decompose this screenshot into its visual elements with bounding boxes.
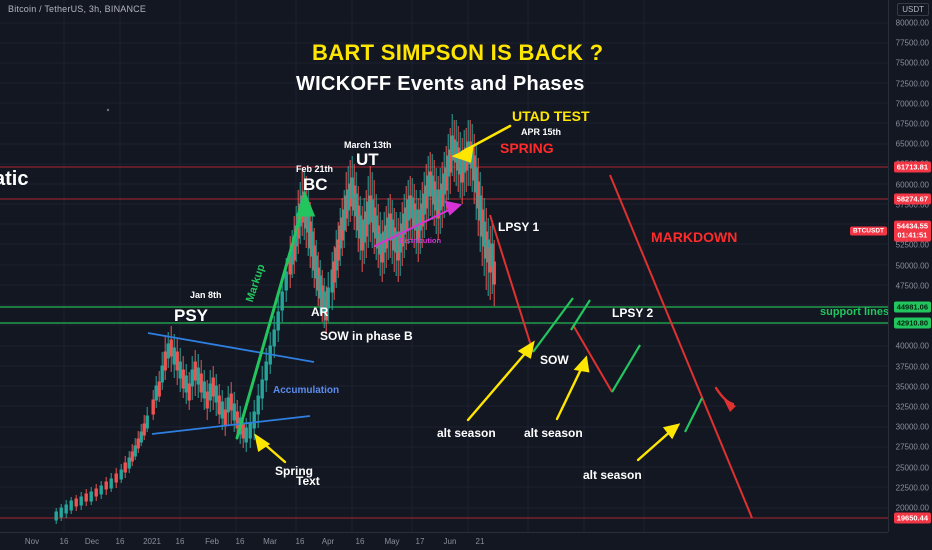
label-automatic-cut: atic bbox=[0, 168, 28, 191]
time-axis[interactable]: Nov16Dec16202116Feb16Mar16Apr16May17Jun2… bbox=[0, 532, 888, 550]
price-axis-tick: 37500.00 bbox=[896, 362, 929, 371]
price-axis-tick: 60000.00 bbox=[896, 180, 929, 189]
label-sow-phase-b: SOW in phase B bbox=[320, 329, 413, 343]
price-axis-tick: 50000.00 bbox=[896, 261, 929, 270]
bar-countdown: 01:41:51 bbox=[897, 231, 928, 240]
price-tag: 42910.80 bbox=[894, 318, 931, 329]
label-march-13th: March 13th bbox=[344, 140, 392, 150]
price-axis-tick: 22500.00 bbox=[896, 483, 929, 492]
label-feb-21th: Feb 21th bbox=[296, 164, 333, 174]
markdown-leg-1 bbox=[490, 215, 533, 352]
tradingview-chart[interactable]: BART SIMPSON IS BACK ? WICKOFF Events an… bbox=[0, 0, 932, 550]
time-axis-tick: 17 bbox=[416, 537, 425, 546]
time-axis-tick: 16 bbox=[296, 537, 305, 546]
chart-title-main: BART SIMPSON IS BACK ? bbox=[312, 40, 603, 66]
price-axis-unit: USDT bbox=[897, 3, 929, 16]
price-axis-tick: 72500.00 bbox=[896, 79, 929, 88]
price-axis-tick: 77500.00 bbox=[896, 39, 929, 48]
green-leg-2 bbox=[612, 345, 640, 392]
markdown-arrowhead bbox=[716, 388, 736, 412]
symbol-header[interactable]: Bitcoin / TetherUS, 3h, BINANCE bbox=[8, 4, 146, 14]
label-lpsy-2: LPSY 2 bbox=[612, 306, 653, 320]
label-ar: AR bbox=[311, 305, 328, 319]
time-axis-tick: Feb bbox=[205, 537, 219, 546]
price-axis-tick: 65000.00 bbox=[896, 140, 929, 149]
time-axis-tick: Mar bbox=[263, 537, 277, 546]
time-axis-tick: 16 bbox=[236, 537, 245, 546]
price-axis-tick: 30000.00 bbox=[896, 423, 929, 432]
price-axis-tick: 70000.00 bbox=[896, 99, 929, 108]
label-alt-season-1: alt season bbox=[437, 426, 496, 440]
markup-arrow bbox=[237, 195, 313, 438]
spring-arrow bbox=[256, 436, 285, 462]
axis-corner bbox=[888, 532, 932, 550]
label-markdown: MARKDOWN bbox=[651, 229, 737, 245]
price-axis-tick: 47500.00 bbox=[896, 281, 929, 290]
label-apr-15th: APR 15th bbox=[521, 127, 561, 137]
alt-season-arrow-2 bbox=[557, 358, 588, 419]
live-price-value: 54434.55 bbox=[897, 222, 928, 231]
price-tag: 58274.67 bbox=[894, 194, 931, 205]
label-utad-test: UTAD TEST bbox=[512, 108, 590, 124]
label-alt-season-2: alt season bbox=[524, 426, 583, 440]
label-distribution: Distribution bbox=[399, 236, 441, 245]
alt-season-arrow-1 bbox=[468, 343, 533, 420]
time-axis-tick: Nov bbox=[25, 537, 39, 546]
time-axis-tick: 21 bbox=[476, 537, 485, 546]
time-axis-tick: 2021 bbox=[143, 537, 161, 546]
live-symbol-tag: BTCUSDT bbox=[850, 227, 887, 236]
label-ut: UT bbox=[356, 150, 379, 170]
price-axis-tick: 52500.00 bbox=[896, 241, 929, 250]
label-jan-8th: Jan 8th bbox=[190, 290, 222, 300]
price-axis-tick: 25000.00 bbox=[896, 463, 929, 472]
label-lpsy-1: LPSY 1 bbox=[498, 220, 539, 234]
time-axis-tick: Dec bbox=[85, 537, 99, 546]
time-axis-tick: 16 bbox=[356, 537, 365, 546]
price-tag: 44981.06 bbox=[894, 302, 931, 313]
label-spring-phase: SPRING bbox=[500, 140, 554, 156]
label-bc: BC bbox=[303, 175, 328, 195]
price-axis-tick: 27500.00 bbox=[896, 443, 929, 452]
price-tag: 61713.81 bbox=[894, 162, 931, 173]
time-axis-tick: Apr bbox=[322, 537, 334, 546]
live-price-tag: 54434.5501:41:51 bbox=[894, 221, 931, 242]
price-axis-tick: 20000.00 bbox=[896, 504, 929, 513]
label-psy: PSY bbox=[174, 306, 208, 326]
time-axis-tick: 16 bbox=[176, 537, 185, 546]
label-accumulation: Accumulation bbox=[273, 385, 339, 396]
price-axis-tick: 32500.00 bbox=[896, 402, 929, 411]
label-text: Text bbox=[296, 474, 320, 488]
time-axis-tick: 16 bbox=[116, 537, 125, 546]
label-sow: SOW bbox=[540, 353, 569, 367]
price-tag: 19650.44 bbox=[894, 513, 931, 524]
price-axis-tick: 67500.00 bbox=[896, 120, 929, 129]
stray-dot bbox=[107, 109, 109, 111]
chart-title-sub: WICKOFF Events and Phases bbox=[296, 73, 585, 96]
candlestick-series bbox=[55, 114, 495, 524]
price-axis-tick: 40000.00 bbox=[896, 342, 929, 351]
time-axis-tick: May bbox=[384, 537, 399, 546]
horizontal-level-lines bbox=[0, 167, 888, 518]
label-alt-season-3: alt season bbox=[583, 468, 642, 482]
price-axis-tick: 35000.00 bbox=[896, 382, 929, 391]
label-support-lines: support lines bbox=[820, 306, 888, 318]
chart-plot-area[interactable]: BART SIMPSON IS BACK ? WICKOFF Events an… bbox=[0, 0, 888, 532]
price-axis-tick: 75000.00 bbox=[896, 59, 929, 68]
time-axis-tick: 16 bbox=[60, 537, 69, 546]
price-axis-tick: 80000.00 bbox=[896, 19, 929, 28]
time-axis-tick: Jun bbox=[444, 537, 457, 546]
price-axis[interactable]: USDT 80000.0077500.0075000.0072500.00700… bbox=[888, 0, 932, 550]
markdown-leg-2 bbox=[573, 325, 612, 392]
